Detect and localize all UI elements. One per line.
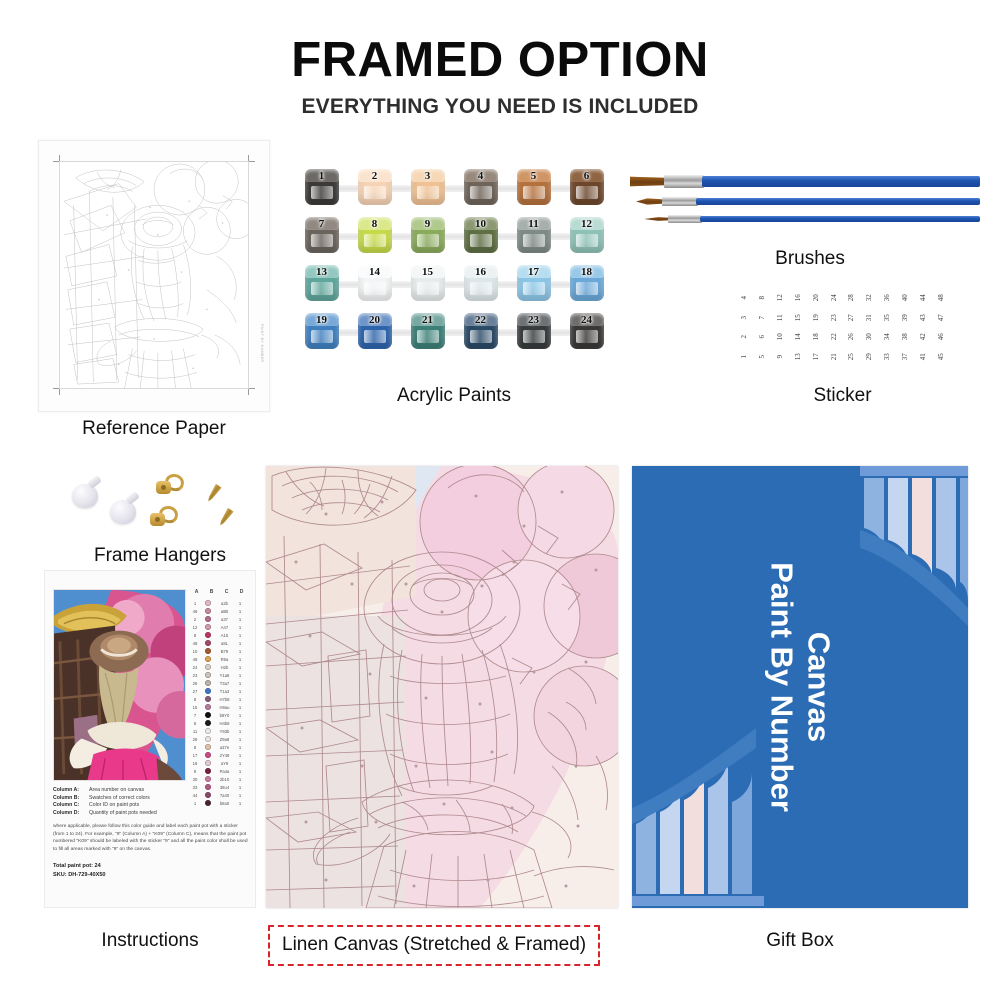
caption-instructions: Instructions <box>44 930 256 952</box>
paint-pot-rail <box>307 281 601 288</box>
paint-pot-gloss <box>311 282 333 295</box>
caption-linen-canvas: Linen Canvas (Stretched & Framed) <box>268 925 600 966</box>
paint-pot-number: 9 <box>408 218 448 230</box>
color-key-quantity: 1 <box>235 665 245 670</box>
paint-pot-number: 2 <box>355 170 395 182</box>
paint-pot-gloss <box>311 330 333 343</box>
sticker-number-grid: 4812162024283236404448371115192327313539… <box>735 288 950 366</box>
legend-row: Column A:Area number on canvas <box>53 787 249 793</box>
color-key-area-number: 46 <box>189 609 201 614</box>
paint-pot-rail <box>307 329 601 336</box>
color-key-color-id: B79 <box>214 649 235 654</box>
legend-row: Column C:Color ID on paint pots <box>53 802 249 808</box>
color-key-color-id: A15 <box>214 633 235 638</box>
color-key-quantity: 1 <box>235 617 245 622</box>
sticker-number: 46 <box>931 328 951 346</box>
sticker-number: 8 <box>752 289 772 307</box>
color-key-color-id: T1a3 <box>214 689 235 694</box>
sticker-number: 4 <box>734 289 754 307</box>
color-key-swatch <box>205 616 211 622</box>
color-key-color-id: H2b <box>214 665 235 670</box>
paint-pot-row: 131415161718 <box>295 264 613 304</box>
paint-pot-18: 18 <box>567 264 607 304</box>
color-key-quantity: 1 <box>235 769 245 774</box>
frame-hangers-item <box>70 468 250 538</box>
legend-row: Column D:Quantity of paint pots needed <box>53 810 249 816</box>
color-key-rows: 1a2b146a8B12a37112A4718A15148a8L110B7914… <box>189 599 249 807</box>
color-key-row: 48a8L1 <box>189 639 249 647</box>
color-key-swatch <box>205 664 211 670</box>
color-key-color-id: a8L <box>214 641 235 646</box>
sticker-number: 9 <box>770 347 790 365</box>
paint-pot-rail <box>307 185 601 192</box>
sku-label: SKU: DH-729-40X50 <box>53 872 106 878</box>
wall-plug-icon <box>72 484 98 508</box>
instructions-color-key: ABCD 1a2b146a8B12a37112A4718A15148a8L110… <box>189 589 249 807</box>
paint-pot-gloss <box>364 186 386 199</box>
paint-pot-gloss <box>576 282 598 295</box>
color-key-swatch <box>205 744 211 750</box>
paint-pot-number: 13 <box>302 266 342 278</box>
paint-pot-gloss <box>364 282 386 295</box>
color-key-area-number: 28 <box>189 737 201 742</box>
reference-paper-watermark: PAINT BY NUMBER <box>260 324 264 363</box>
color-key-column-header: B <box>204 589 219 598</box>
color-key-row: 1a2b1 <box>189 599 249 607</box>
sticker-number: 19 <box>806 308 826 326</box>
color-key-row: 16aY91 <box>189 759 249 767</box>
sticker-number: 6 <box>752 328 772 346</box>
color-key-swatch <box>205 672 211 678</box>
color-key-color-id: b8Y0 <box>214 713 235 718</box>
legend-column-label: Column B: <box>53 795 89 801</box>
sticker-number: 41 <box>913 347 933 365</box>
color-key-swatch-cell <box>201 624 214 630</box>
color-key-quantity: 1 <box>235 705 245 710</box>
paint-pot-gloss <box>417 330 439 343</box>
color-key-swatch <box>205 688 211 694</box>
color-key-column-header: D <box>234 589 249 598</box>
paint-pot-gloss <box>311 234 333 247</box>
color-key-swatch <box>205 728 211 734</box>
paint-pot-number: 18 <box>567 266 607 278</box>
color-key-area-number: 6 <box>189 721 201 726</box>
instructions-note: where applicable, please follow this col… <box>53 823 249 853</box>
paint-pot-3: 3 <box>408 168 448 208</box>
brushes-item <box>630 172 980 232</box>
color-key-swatch <box>205 640 211 646</box>
paint-pot-number: 14 <box>355 266 395 278</box>
round-brush <box>636 198 980 205</box>
paint-pot-21: 21 <box>408 312 448 352</box>
wall-plug-icon <box>110 500 136 524</box>
total-paint-pot-label: Total paint pot: 24 <box>53 863 101 869</box>
paint-pot-row: 192021222324 <box>295 312 613 352</box>
paint-pot-13: 13 <box>302 264 342 304</box>
color-key-color-id: Y93b <box>214 729 235 734</box>
page-title: FRAMED OPTION <box>0 32 1000 88</box>
gift-box-line2: Paint By Number <box>765 562 800 812</box>
color-key-quantity: 1 <box>235 625 245 630</box>
color-key-swatch <box>205 648 211 654</box>
color-key-swatch-cell <box>201 688 214 694</box>
paint-pot-number: 10 <box>461 218 501 230</box>
sticker-number: 14 <box>788 328 808 346</box>
sticker-number: 17 <box>806 347 826 365</box>
color-key-color-id: H9au <box>214 705 235 710</box>
paint-pot-24: 24 <box>567 312 607 352</box>
color-key-quantity: 1 <box>235 601 245 606</box>
gift-box-item: Canvas Paint By Number <box>632 466 968 908</box>
paint-pot-number: 6 <box>567 170 607 182</box>
color-key-area-number: 27 <box>189 689 201 694</box>
legend-description: Swatches of correct colors <box>89 795 249 801</box>
paint-pot-number: 19 <box>302 314 342 326</box>
gift-box-label: Canvas Paint By Number <box>763 562 836 812</box>
paint-pot-8: 8 <box>355 216 395 256</box>
sticker-number: 11 <box>770 308 790 326</box>
paint-pot-14: 14 <box>355 264 395 304</box>
color-key-quantity: 1 <box>235 745 245 750</box>
paint-pot-gloss <box>523 330 545 343</box>
paint-pot-17: 17 <box>514 264 554 304</box>
paint-pot-gloss <box>470 330 492 343</box>
paint-pot-gloss <box>364 234 386 247</box>
screw-icon <box>205 484 221 504</box>
paint-pot-1: 1 <box>302 168 342 208</box>
caption-acrylic-paints: Acrylic Paints <box>295 385 613 407</box>
color-key-row: 7b8Y01 <box>189 711 249 719</box>
color-key-row: 23Y1a81 <box>189 671 249 679</box>
color-key-area-number: 26 <box>189 681 201 686</box>
sticker-number: 16 <box>788 289 808 307</box>
paint-pot-16: 16 <box>461 264 501 304</box>
color-key-color-id: H7b8 <box>214 697 235 702</box>
color-key-header: ABCD <box>189 589 249 598</box>
color-key-swatch-cell <box>201 768 214 774</box>
paint-pot-2: 2 <box>355 168 395 208</box>
color-key-row: 8A151 <box>189 631 249 639</box>
sticker-number: 7 <box>752 308 772 326</box>
paint-pot-gloss <box>523 234 545 247</box>
color-key-quantity: 1 <box>235 737 245 742</box>
color-key-area-number: 9 <box>189 769 201 774</box>
sticker-number: 1 <box>734 347 754 365</box>
color-key-color-id: H4b8 <box>214 721 235 726</box>
color-key-swatch-cell <box>201 672 214 678</box>
color-key-color-id: a2b <box>214 601 235 606</box>
color-key-quantity: 1 <box>235 729 245 734</box>
sticker-number: 43 <box>913 308 933 326</box>
color-key-quantity: 1 <box>235 681 245 686</box>
sticker-number: 47 <box>931 308 951 326</box>
color-key-row: 302b101 <box>189 775 249 783</box>
color-key-row: 48R6a1 <box>189 655 249 663</box>
color-key-row: 9Pa4a1 <box>189 767 249 775</box>
color-key-swatch <box>205 760 211 766</box>
color-key-area-number: 48 <box>189 641 201 646</box>
color-key-swatch <box>205 632 211 638</box>
paint-pot-7: 7 <box>302 216 342 256</box>
paint-pot-rail <box>307 233 601 240</box>
paint-pot-gloss <box>417 186 439 199</box>
paint-pot-gloss <box>470 282 492 295</box>
sticker-number: 42 <box>913 328 933 346</box>
paint-pot-10: 10 <box>461 216 501 256</box>
detail-brush <box>644 216 980 222</box>
sticker-number: 15 <box>788 308 808 326</box>
paint-pot-number: 5 <box>514 170 554 182</box>
sticker-number: 10 <box>770 328 790 346</box>
color-key-quantity: 1 <box>235 649 245 654</box>
color-key-row: 8H7b81 <box>189 695 249 703</box>
color-key-swatch-cell <box>201 712 214 718</box>
color-key-quantity: 1 <box>235 761 245 766</box>
acrylic-paints-item: 123456789101112131415161718192021222324 <box>295 168 613 360</box>
paint-pot-number: 8 <box>355 218 395 230</box>
color-key-area-number: 16 <box>189 761 201 766</box>
color-key-swatch-cell <box>201 760 214 766</box>
color-key-color-id: Pa4a <box>214 769 235 774</box>
color-key-color-id: 2b10 <box>214 777 235 782</box>
color-key-color-id: R6a <box>214 657 235 662</box>
color-key-area-number: 8 <box>189 633 201 638</box>
color-key-swatch <box>205 656 211 662</box>
color-key-quantity: 1 <box>235 713 245 718</box>
color-key-row: 27T1a31 <box>189 687 249 695</box>
color-key-swatch <box>205 736 211 742</box>
sticker-number: 20 <box>806 289 826 307</box>
sticker-number: 34 <box>878 328 898 346</box>
sticker-number: 29 <box>860 347 880 365</box>
color-key-swatch <box>205 624 211 630</box>
color-key-swatch <box>205 608 211 614</box>
color-key-color-id: a37 <box>214 617 235 622</box>
caption-sticker: Sticker <box>735 385 950 407</box>
color-key-swatch-cell <box>201 640 214 646</box>
d-ring-hanger-icon <box>156 474 184 496</box>
sticker-number: 2 <box>734 328 754 346</box>
paint-pot-number: 4 <box>461 170 501 182</box>
paint-pot-number: 23 <box>514 314 554 326</box>
paint-pot-number: 1 <box>302 170 342 182</box>
legend-column-label: Column D: <box>53 810 89 816</box>
canvas-lineart <box>266 466 618 908</box>
color-key-quantity: 1 <box>235 697 245 702</box>
color-key-row: 2a371 <box>189 615 249 623</box>
color-key-row: 12A471 <box>189 623 249 631</box>
paint-pot-gloss <box>576 330 598 343</box>
color-key-quantity: 1 <box>235 641 245 646</box>
color-key-row: 6H4b81 <box>189 719 249 727</box>
paint-pot-number: 12 <box>567 218 607 230</box>
color-key-area-number: 8 <box>189 745 201 750</box>
sticker-number: 33 <box>878 347 898 365</box>
color-key-swatch-cell <box>201 664 214 670</box>
caption-gift-box: Gift Box <box>632 930 968 952</box>
color-key-area-number: 23 <box>189 673 201 678</box>
color-key-row: 28Z9a81 <box>189 735 249 743</box>
color-key-swatch <box>205 720 211 726</box>
color-key-area-number: 2 <box>189 617 201 622</box>
paint-pot-gloss <box>576 234 598 247</box>
color-key-area-number: 48 <box>189 657 201 662</box>
paint-pot-22: 22 <box>461 312 501 352</box>
sticker-number: 39 <box>895 308 915 326</box>
sticker-number: 45 <box>931 347 951 365</box>
paint-pot-number: 20 <box>355 314 395 326</box>
color-key-swatch <box>205 600 211 606</box>
caption-brushes: Brushes <box>700 248 920 270</box>
sticker-item: 4812162024283236404448371115192327313539… <box>735 288 950 366</box>
screw-icon <box>217 508 233 528</box>
sticker-number: 5 <box>752 347 772 365</box>
color-key-color-id: 2Y48 <box>214 753 235 758</box>
color-key-quantity: 1 <box>235 673 245 678</box>
color-key-area-number: 24 <box>189 665 201 670</box>
sticker-number: 31 <box>860 308 880 326</box>
paint-pot-row: 789101112 <box>295 216 613 256</box>
color-key-row: 11Y93b1 <box>189 727 249 735</box>
sticker-number: 12 <box>770 289 790 307</box>
paint-pot-number: 11 <box>514 218 554 230</box>
paint-pot-gloss <box>576 186 598 199</box>
color-key-color-id: A47 <box>214 625 235 630</box>
color-key-quantity: 1 <box>235 633 245 638</box>
caption-frame-hangers: Frame Hangers <box>30 545 290 567</box>
color-key-swatch-cell <box>201 752 214 758</box>
paint-pot-number: 15 <box>408 266 448 278</box>
legend-column-label: Column A: <box>53 787 89 793</box>
color-key-swatch-cell <box>201 744 214 750</box>
instructions-legend: Column A:Area number on canvasColumn B:S… <box>53 787 249 817</box>
paint-pot-19: 19 <box>302 312 342 352</box>
paint-pot-number: 16 <box>461 266 501 278</box>
paint-pot-gloss <box>417 282 439 295</box>
paint-pot-gloss <box>417 234 439 247</box>
color-key-area-number: 12 <box>189 625 201 630</box>
paint-pot-number: 22 <box>461 314 501 326</box>
color-key-swatch-cell <box>201 776 214 782</box>
color-key-area-number: 17 <box>189 753 201 758</box>
color-key-row: 8a37e1 <box>189 743 249 751</box>
paint-pot-9: 9 <box>408 216 448 256</box>
color-key-row: 10B791 <box>189 647 249 655</box>
paint-pot-number: 24 <box>567 314 607 326</box>
color-key-area-number: 30 <box>189 777 201 782</box>
color-key-quantity: 1 <box>235 609 245 614</box>
color-key-color-id: Y1a8 <box>214 673 235 678</box>
paint-pot-4: 4 <box>461 168 501 208</box>
reference-paper-lineart <box>59 161 249 389</box>
color-key-swatch <box>205 680 211 686</box>
color-key-swatch <box>205 752 211 758</box>
color-key-swatch-cell <box>201 616 214 622</box>
color-key-row: 46a8B1 <box>189 607 249 615</box>
legend-row: Column B:Swatches of correct colors <box>53 795 249 801</box>
color-key-quantity: 1 <box>235 721 245 726</box>
page-subtitle: EVERYTHING YOU NEED IS INCLUDED <box>0 95 1000 119</box>
color-key-swatch <box>205 704 211 710</box>
color-key-swatch-cell <box>201 736 214 742</box>
paint-pot-5: 5 <box>514 168 554 208</box>
paint-pot-gloss <box>364 330 386 343</box>
flat-brush <box>630 176 980 187</box>
d-ring-hanger-icon <box>150 506 178 528</box>
paint-pot-gloss <box>523 282 545 295</box>
legend-description: Quantity of paint pots needed <box>89 810 249 816</box>
legend-column-label: Column C: <box>53 802 89 808</box>
sticker-number: 30 <box>860 328 880 346</box>
linen-canvas-item <box>266 466 618 908</box>
reference-paper-item: PAINT BY NUMBER <box>38 140 270 412</box>
color-key-swatch <box>205 696 211 702</box>
instructions-item: ABCD 1a2b146a8B12a37112A4718A15148a8L110… <box>44 570 256 908</box>
sticker-number: 40 <box>895 289 915 307</box>
paint-pot-number: 17 <box>514 266 554 278</box>
color-key-quantity: 1 <box>235 657 245 662</box>
sticker-number: 13 <box>788 347 808 365</box>
color-key-area-number: 15 <box>189 705 201 710</box>
legend-description: Color ID on paint pots <box>89 802 249 808</box>
color-key-row: 15H9au1 <box>189 703 249 711</box>
sticker-number: 38 <box>895 328 915 346</box>
legend-description: Area number on canvas <box>89 787 249 793</box>
color-key-column-header: C <box>219 589 234 598</box>
paint-pot-20: 20 <box>355 312 395 352</box>
color-key-quantity: 1 <box>235 777 245 782</box>
paint-pot-15: 15 <box>408 264 448 304</box>
color-key-area-number: 10 <box>189 649 201 654</box>
sticker-number: 32 <box>860 289 880 307</box>
color-key-area-number: 7 <box>189 713 201 718</box>
paint-pot-gloss <box>470 186 492 199</box>
paint-pot-gloss <box>470 234 492 247</box>
color-key-swatch-cell <box>201 720 214 726</box>
color-key-quantity: 1 <box>235 753 245 758</box>
gift-box-line1: Canvas <box>802 632 837 742</box>
color-key-column-header: A <box>189 589 204 598</box>
color-key-swatch <box>205 776 211 782</box>
color-key-area-number: 8 <box>189 697 201 702</box>
sticker-number: 44 <box>913 289 933 307</box>
color-key-color-id: aY9 <box>214 761 235 766</box>
paint-pot-6: 6 <box>567 168 607 208</box>
color-key-color-id: Z9a8 <box>214 737 235 742</box>
color-key-row: 24H2b1 <box>189 663 249 671</box>
paint-pot-number: 3 <box>408 170 448 182</box>
paint-pot-gloss <box>523 186 545 199</box>
paint-pot-gloss <box>311 186 333 199</box>
sticker-number: 36 <box>878 289 898 307</box>
paint-pot-number: 7 <box>302 218 342 230</box>
paint-pot-row: 123456 <box>295 168 613 208</box>
paint-pot-11: 11 <box>514 216 554 256</box>
sticker-number: 37 <box>895 347 915 365</box>
color-key-swatch-cell <box>201 632 214 638</box>
paint-pot-12: 12 <box>567 216 607 256</box>
color-key-color-id: T3a7 <box>214 681 235 686</box>
color-key-swatch <box>205 768 211 774</box>
color-key-swatch-cell <box>201 704 214 710</box>
color-key-row: 172Y481 <box>189 751 249 759</box>
color-key-swatch-cell <box>201 696 214 702</box>
product-infographic: FRAMED OPTION EVERYTHING YOU NEED IS INC… <box>0 0 1000 1000</box>
color-key-swatch-cell <box>201 656 214 662</box>
color-key-row: 26T3a71 <box>189 679 249 687</box>
sticker-number: 3 <box>734 308 754 326</box>
color-key-color-id: a8B <box>214 609 235 614</box>
